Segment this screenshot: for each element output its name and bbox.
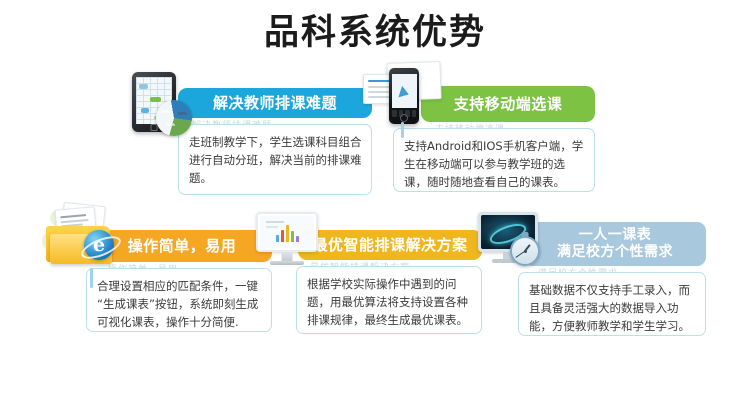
card-personal-timetable[interactable]: 一人一课表 满足校方个性需求 满足校方个性需求 基础数据不仅支持手工录入，而且具… (478, 212, 706, 336)
monitor-stand-foot (270, 261, 304, 265)
card-body-text: 基础数据不仅支持手工录入，而且具备灵活强大的数据导入功能，方便教师教学和学生学习… (529, 283, 690, 333)
phone-home-button (400, 114, 408, 122)
folder-group: e (42, 204, 124, 276)
card-body-text: 根据学校实际操作中遇到的问题，用最优算法将支持设置各种排课规律，最终生成最优课表… (307, 277, 468, 327)
card-heading-line-2: 满足校方个性需求 (557, 244, 673, 262)
screen-cell-highlight (139, 84, 148, 89)
card-heading: 操作简单，易用 (128, 237, 237, 256)
card-body-personal-timetable: 基础数据不仅支持手工录入，而且具备灵活强大的数据导入功能，方便教师教学和学生学习… (518, 272, 706, 336)
smartphone-device (389, 68, 419, 124)
smartphone-documents-icon (363, 60, 443, 140)
cursor-icon (398, 86, 410, 100)
card-heading-line-1: 一人一课表 (579, 227, 652, 245)
cable-graphic (90, 268, 93, 288)
card-banner-optimal-scheduling[interactable]: 最优智能排课解决方案 (298, 230, 482, 260)
stopwatch-pin (524, 250, 527, 253)
tablet-pie-chart-icon: 30% 30% 50% (132, 72, 194, 138)
phone-group (363, 60, 441, 130)
browser-globe-icon: e (84, 230, 114, 260)
phone-screen (392, 74, 417, 108)
stopwatch-crown (522, 232, 529, 237)
pie-chart: 30% 30% 50% (156, 100, 192, 136)
pie-label: 30% (161, 109, 170, 114)
card-body-optimal-scheduling: 根据学校实际操作中遇到的问题，用最优算法将支持设置各种排课规律，最终生成最优课表… (296, 266, 482, 334)
slide-canvas: 品科系统优势 30% 30% 50% 解决教师排课难题 (0, 0, 750, 414)
card-body-teacher-scheduling: 走班制教学下，学生选课科目组合进行自动分班，解决当前的排课难题。 (178, 124, 372, 195)
card-body-text: 支持Android和IOS手机客户端，学生在移动端可以参与教学班的选课，随时随地… (404, 139, 583, 189)
monitor-panel (256, 212, 318, 252)
page-title: 品科系统优势 (0, 4, 750, 55)
monitor-stopwatch-icon (478, 212, 542, 270)
card-banner-teacher-scheduling[interactable]: 解决教师排课难题 (178, 88, 372, 118)
card-optimal-scheduling[interactable]: 最优智能排课解决方案 最优智能排课解决方案 根据学校实际操作中遇到的问题，用最优… (256, 212, 482, 334)
screen-cell-highlight (141, 108, 149, 113)
screen-line (266, 226, 278, 228)
card-easy-operation[interactable]: e 操作简单，易用 操作简单，易用 合理设置相应的匹配条件，一键“生成课表”按钮… (42, 204, 272, 332)
stopwatch-icon (510, 236, 540, 266)
pie-label: 30% (166, 122, 175, 127)
screen-cell-highlight (150, 97, 161, 102)
card-body-text: 合理设置相应的匹配条件，一键“生成课表”按钮，系统即刻生成可视化课表，操作十分简… (97, 279, 258, 329)
card-banner-personal-timetable[interactable]: 一人一课表 满足校方个性需求 (524, 222, 706, 266)
card-teacher-scheduling[interactable]: 30% 30% 50% 解决教师排课难题 解决教师排课难题 走班制教学下，学生选… (132, 70, 372, 195)
card-heading: 解决教师排课难题 (213, 94, 337, 113)
imac-device (256, 212, 318, 268)
screen-line (266, 221, 284, 223)
chart-bars (276, 222, 299, 242)
monitor-screen (260, 216, 314, 248)
card-heading: 最优智能排课解决方案 (312, 236, 467, 255)
card-body-text: 走班制教学下，学生选课科目组合进行自动分班，解决当前的排课难题。 (189, 135, 362, 185)
card-heading: 支持移动端选课 (454, 95, 563, 114)
desktop-monitor-chart-icon (256, 212, 320, 270)
cable-graphic (401, 122, 404, 138)
card-banner-mobile-course-selection[interactable]: 支持移动端选课 (421, 86, 595, 122)
folder-browser-icon: e (42, 204, 126, 278)
card-mobile-course-selection[interactable]: 支持移动端选课 支持移动端选课 支持Android和IOS手机客户端，学生在移动… (363, 60, 595, 192)
pie-label: 50% (178, 111, 187, 116)
